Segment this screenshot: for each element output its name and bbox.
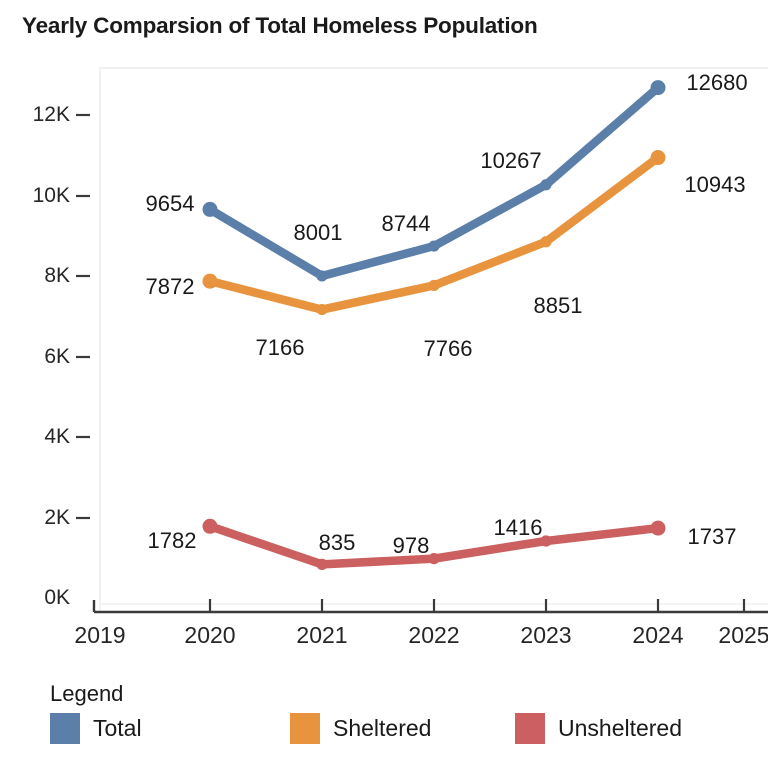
data-value-label-unsheltered: 1737 [688,524,737,550]
y-axis-tick-label: 12K [0,103,70,127]
legend-label-unsheltered: Unsheltered [558,715,682,742]
series-marker-sheltered [540,236,551,247]
series-sheltered [203,150,666,315]
series-marker-total [316,270,327,281]
series-marker-unsheltered [428,553,439,564]
data-value-label-sheltered: 7872 [146,274,195,300]
y-axis-tick-label: 8K [0,264,70,288]
data-value-label-total: 8001 [294,220,343,246]
chart-container: Yearly Comparsion of Total Homeless Popu… [0,0,768,768]
x-axis-tick-label: 2024 [632,622,683,649]
y-axis-tick-label: 4K [0,425,70,449]
series-marker-sheltered [316,304,327,315]
x-axis-tick-label: 2023 [520,622,571,649]
data-value-label-sheltered: 10943 [684,172,745,198]
data-value-label-total: 9654 [146,191,195,217]
legend-title: Legend [50,681,123,707]
x-axis-tick-label: 2025 [718,622,768,649]
x-axis-tick-label: 2021 [296,622,347,649]
chart-legend: Legend TotalShelteredUnsheltered [50,681,750,761]
y-axis-tick-label: 10K [0,184,70,208]
series-marker-total [651,80,666,95]
series-marker-unsheltered [651,521,666,536]
plot-canvas [0,0,768,768]
data-value-label-sheltered: 7766 [424,336,473,362]
x-axis-tick-label: 2020 [184,622,235,649]
data-value-label-total: 10267 [480,148,541,174]
legend-swatch-sheltered [290,713,320,744]
data-value-label-unsheltered: 978 [393,533,430,559]
series-marker-unsheltered [203,519,218,534]
legend-item-unsheltered[interactable]: Unsheltered [515,710,682,746]
series-marker-sheltered [203,274,218,289]
x-axis-tick-label: 2022 [408,622,459,649]
series-unsheltered [203,519,666,570]
x-axis-tick-label: 2019 [74,622,125,649]
y-axis-tick-label: 0K [0,586,70,610]
data-value-label-sheltered: 8851 [534,293,583,319]
series-total [203,80,666,281]
series-marker-total [540,179,551,190]
data-value-label-sheltered: 7166 [256,335,305,361]
y-axis-tick-label: 2K [0,506,70,530]
y-axis-tick-label: 6K [0,345,70,369]
series-marker-sheltered [651,150,666,165]
series-marker-total [428,240,439,251]
legend-item-sheltered[interactable]: Sheltered [290,710,431,746]
data-value-label-unsheltered: 1782 [148,528,197,554]
legend-label-total: Total [93,715,142,742]
data-value-label-total: 12680 [686,70,747,96]
data-value-label-unsheltered: 1416 [494,515,543,541]
legend-swatch-total [50,713,80,744]
legend-swatch-unsheltered [515,713,545,744]
series-layer [203,80,666,570]
legend-label-sheltered: Sheltered [333,715,431,742]
legend-item-total[interactable]: Total [50,710,142,746]
series-marker-unsheltered [316,559,327,570]
series-marker-total [203,202,218,217]
data-value-label-total: 8744 [382,211,431,237]
data-value-label-unsheltered: 835 [319,530,356,556]
series-marker-sheltered [428,280,439,291]
